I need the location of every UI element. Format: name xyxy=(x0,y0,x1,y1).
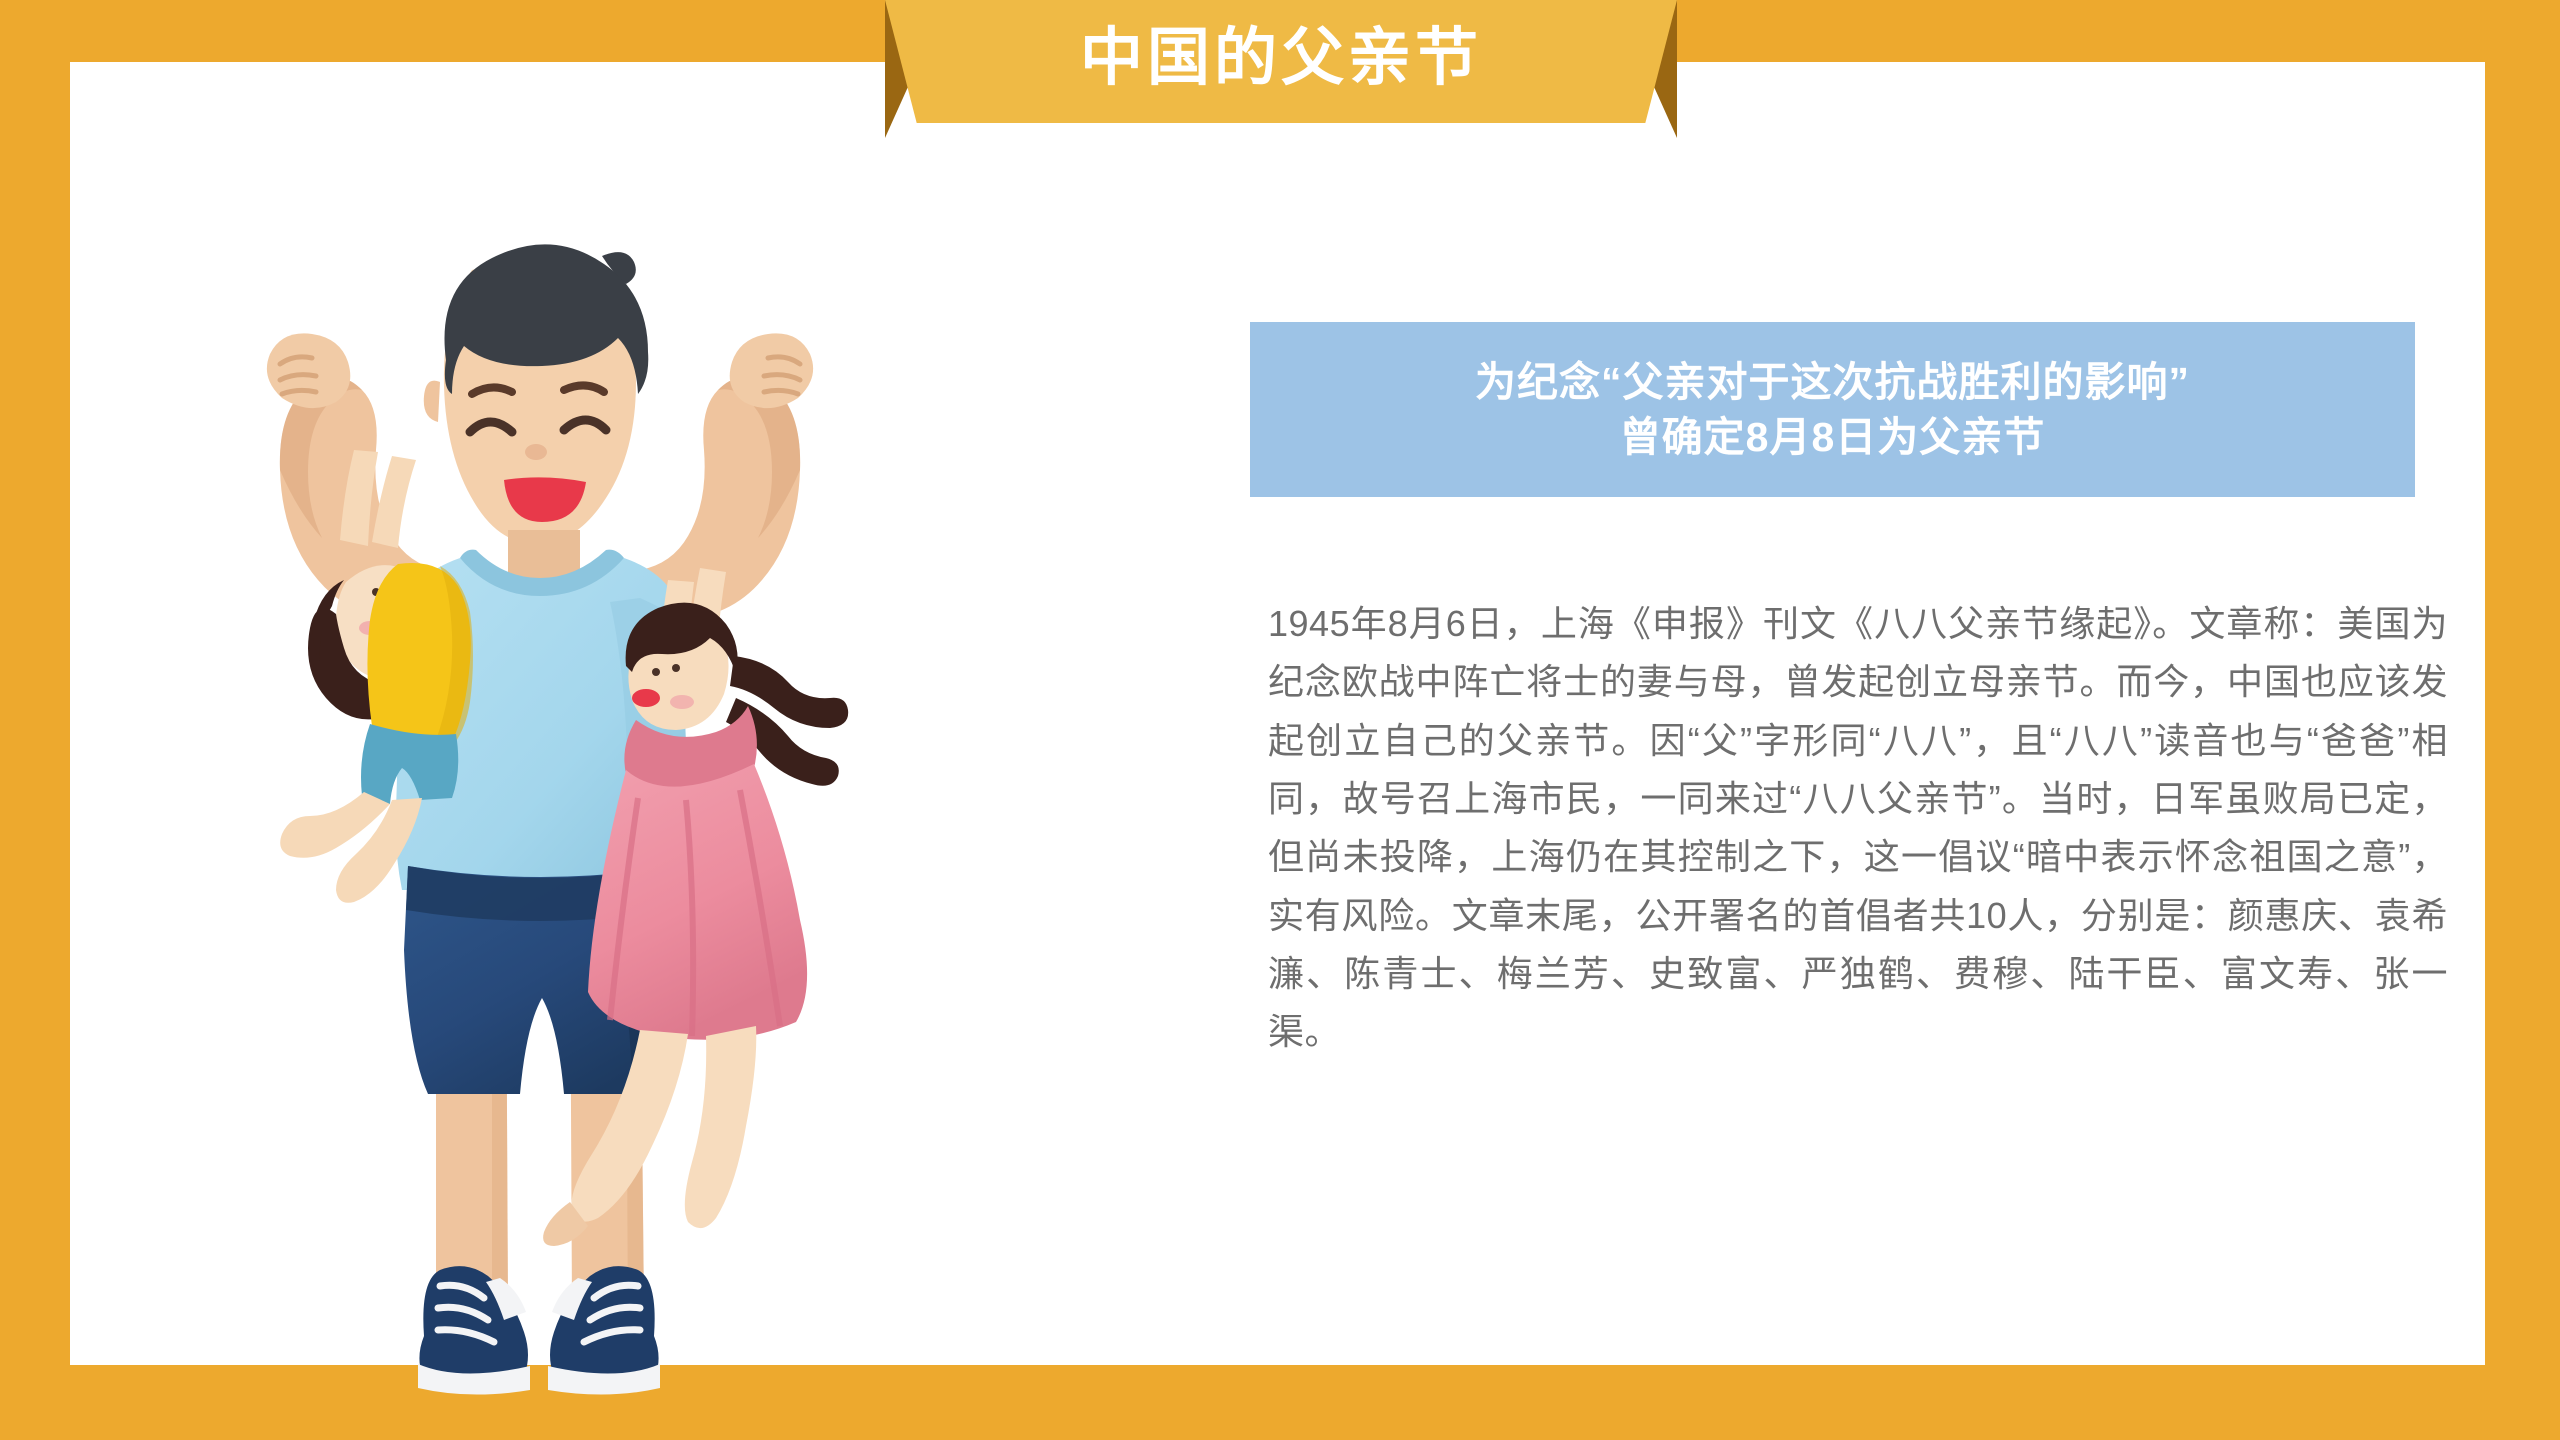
father-shoes xyxy=(418,1266,660,1394)
headline-box: 为纪念“父亲对于这次抗战胜利的影响” 曾确定8月8日为父亲节 xyxy=(1250,322,2415,497)
father-and-children-illustration xyxy=(140,150,940,1440)
father-right-arm xyxy=(640,333,813,620)
body-paragraph: 1945年8月6日，上海《申报》刊文《八八父亲节缘起》。文章称：美国为纪念欧战中… xyxy=(1268,595,2448,1062)
headline-line-1: 为纪念“父亲对于这次抗战胜利的影响” xyxy=(1475,355,2190,410)
father-head xyxy=(424,244,649,544)
headline-line-2: 曾确定8月8日为父亲节 xyxy=(1620,410,2046,465)
slide-root: 中国的父亲节 为纪念“父亲对于这次抗战胜利的影响” 曾确定8月8日为父亲节 19… xyxy=(0,0,2560,1440)
